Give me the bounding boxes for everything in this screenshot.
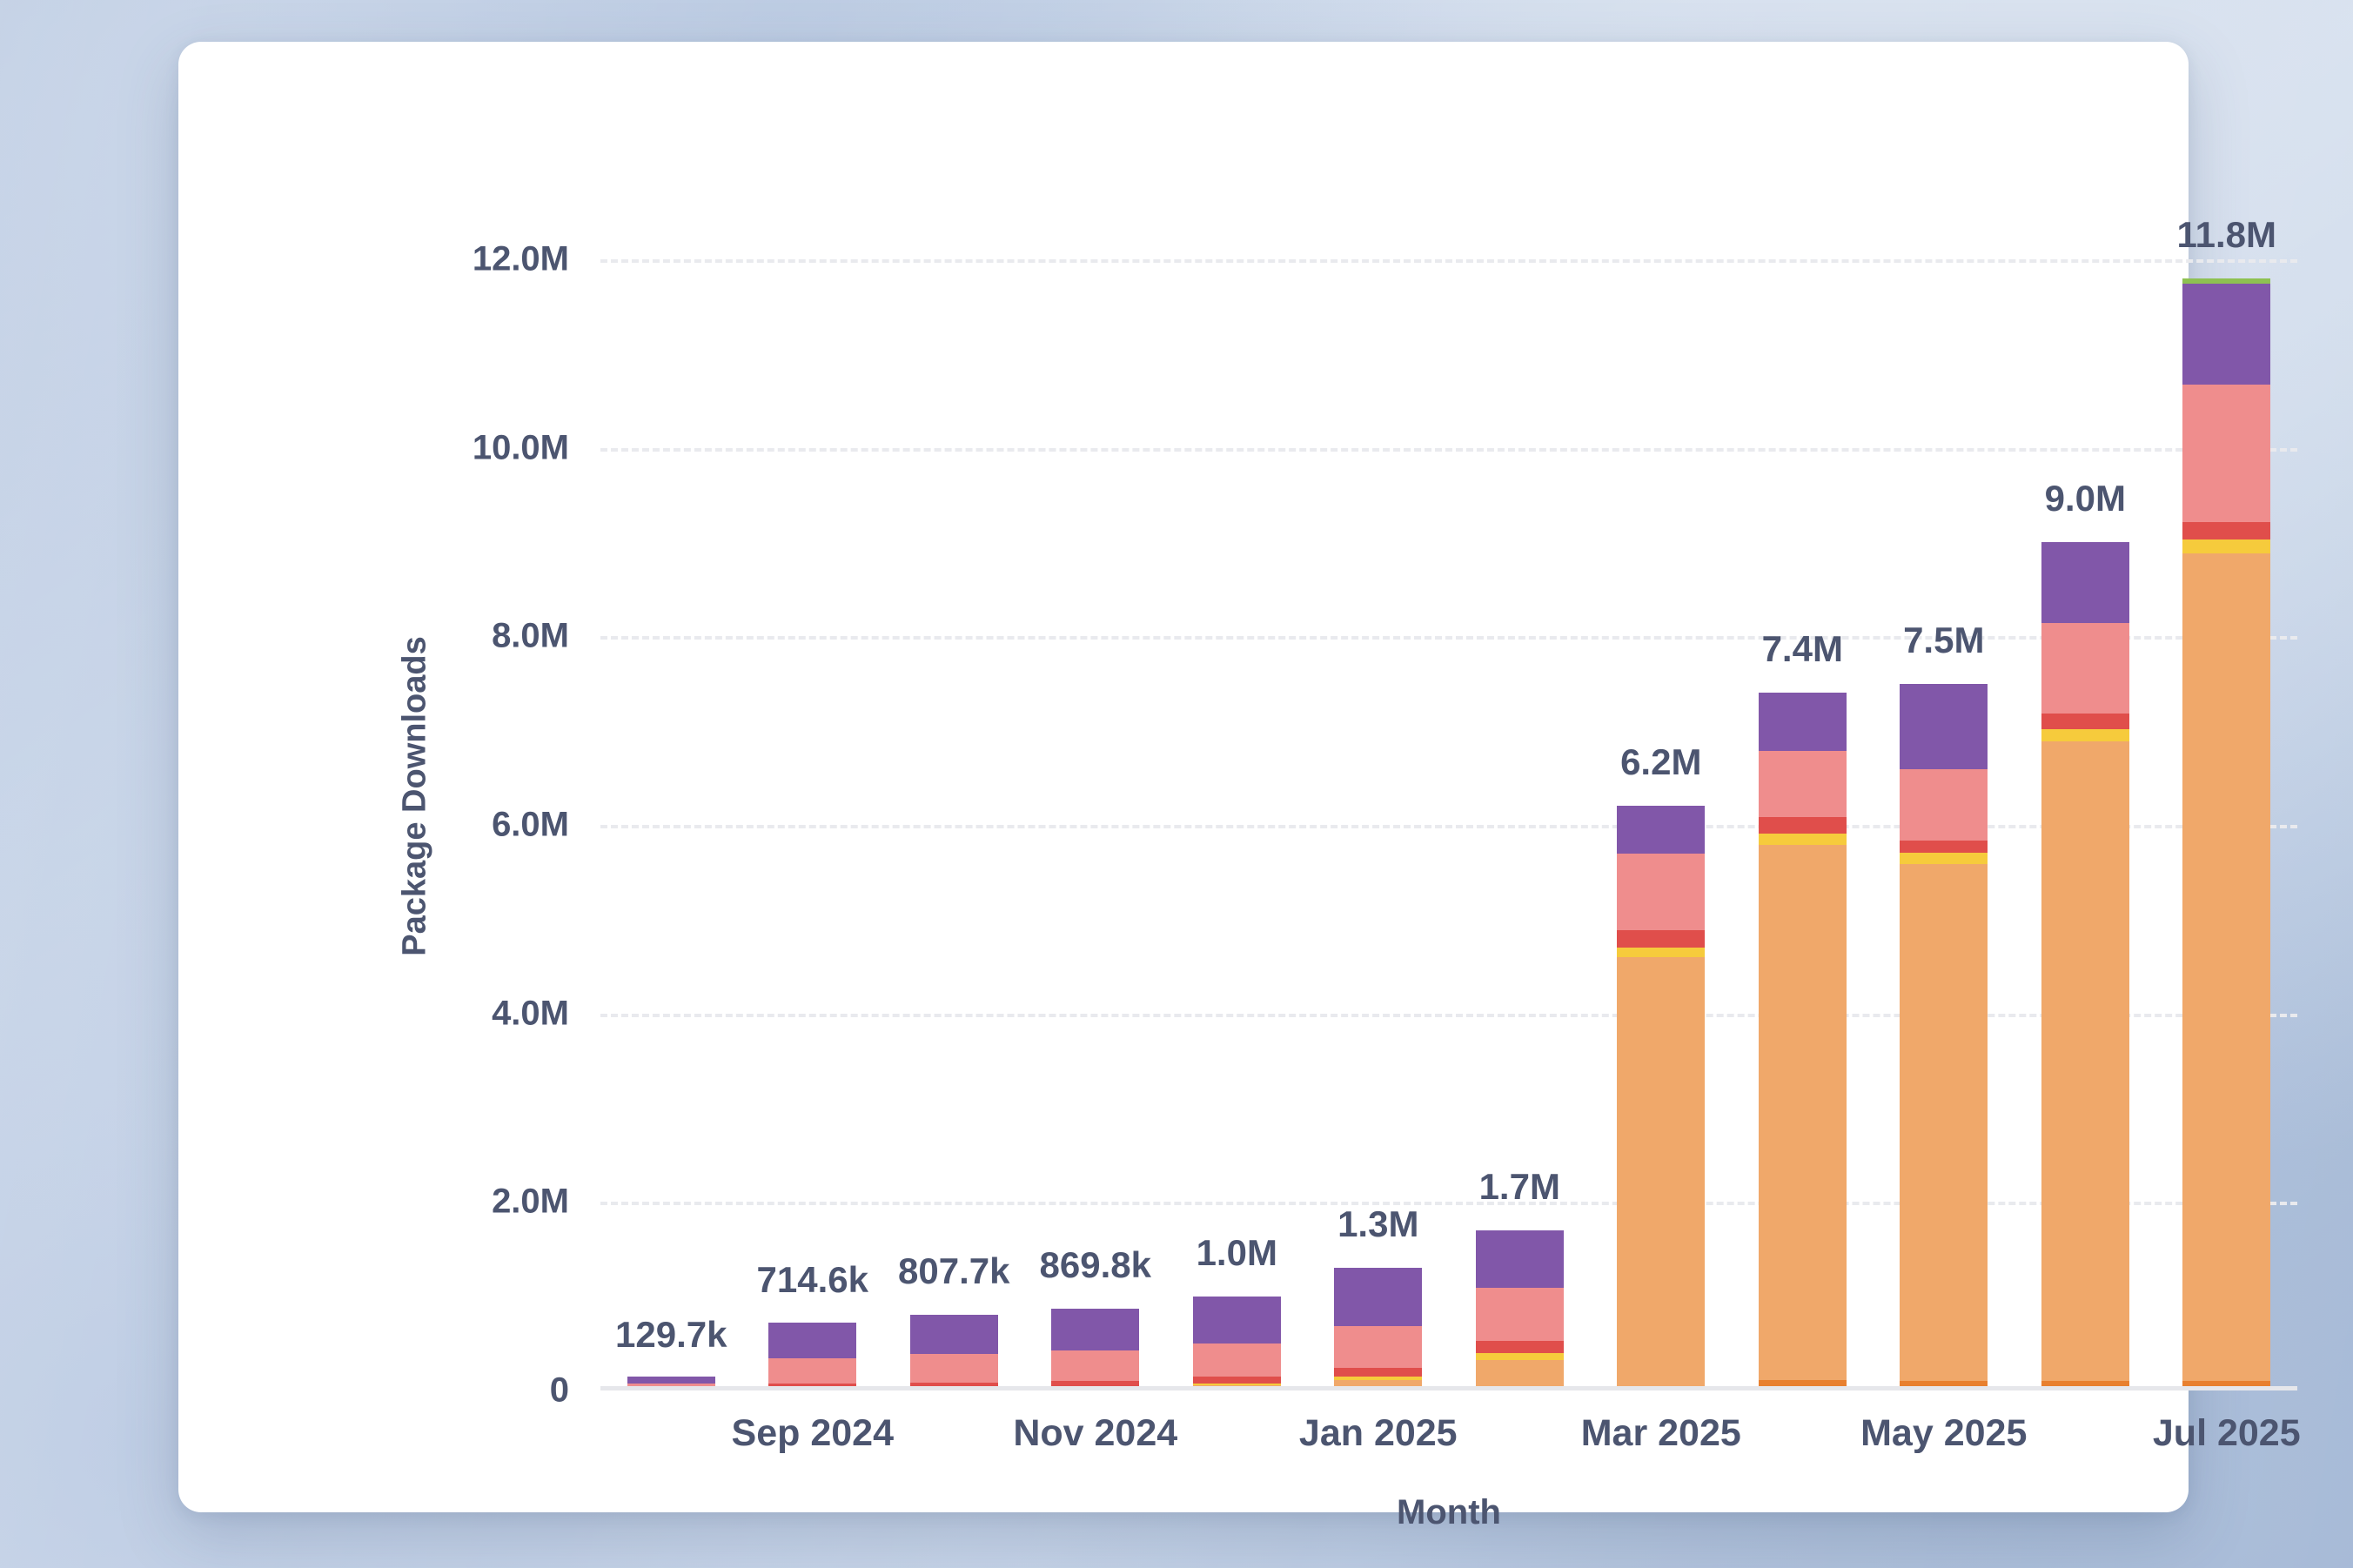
bar-segment-red[interactable] bbox=[2182, 522, 2270, 540]
stacked-bar[interactable]: 1.0M bbox=[1193, 1297, 1281, 1390]
bar-segment-salmon[interactable] bbox=[1051, 1350, 1139, 1381]
x-tick-label: Jan 2025 bbox=[1299, 1412, 1458, 1455]
bar-total-label: 7.5M bbox=[1903, 620, 1984, 661]
bar-segment-salmon[interactable] bbox=[1759, 751, 1847, 817]
y-tick-label: 8.0M bbox=[308, 617, 569, 656]
gridline bbox=[600, 448, 2297, 452]
bar-segment-light-orange[interactable] bbox=[2182, 553, 2270, 1381]
bar-segment-purple[interactable] bbox=[2182, 284, 2270, 384]
bar-total-label: 6.2M bbox=[1620, 741, 1701, 783]
stacked-bar[interactable]: 6.2M bbox=[1617, 806, 1705, 1390]
chart-card: Package Downloads Month 02.0M4.0M6.0M8.0… bbox=[178, 42, 2189, 1512]
stacked-bar[interactable]: 714.6k bbox=[768, 1323, 856, 1390]
stacked-bar[interactable]: 11.8M bbox=[2182, 278, 2270, 1390]
bar-segment-light-orange[interactable] bbox=[2041, 741, 2129, 1381]
bar-total-label: 9.0M bbox=[2045, 478, 2126, 519]
stacked-bar[interactable]: 7.5M bbox=[1900, 684, 1988, 1390]
bar-segment-purple[interactable] bbox=[2041, 542, 2129, 623]
stacked-bar[interactable]: 869.8k bbox=[1051, 1309, 1139, 1390]
bar-segment-red[interactable] bbox=[2041, 714, 2129, 729]
bar-segment-purple[interactable] bbox=[768, 1323, 856, 1358]
y-axis-title: Package Downloads bbox=[397, 636, 434, 955]
y-tick-label: 10.0M bbox=[308, 428, 569, 467]
bar-total-label: 714.6k bbox=[757, 1259, 868, 1301]
stacked-bar[interactable]: 1.3M bbox=[1334, 1268, 1422, 1390]
bar-total-label: 129.7k bbox=[615, 1314, 727, 1356]
bar-segment-salmon[interactable] bbox=[1900, 769, 1988, 841]
bar-segment-yellow[interactable] bbox=[2182, 539, 2270, 553]
bar-segment-purple[interactable] bbox=[1051, 1309, 1139, 1350]
y-tick-label: 0 bbox=[308, 1371, 569, 1411]
x-tick-label: Jul 2025 bbox=[2153, 1412, 2301, 1455]
x-tick-label: Sep 2024 bbox=[732, 1412, 894, 1455]
bar-total-label: 807.7k bbox=[898, 1250, 1009, 1292]
bar-segment-red[interactable] bbox=[1759, 817, 1847, 834]
bar-segment-yellow[interactable] bbox=[1900, 853, 1988, 864]
y-tick-label: 2.0M bbox=[308, 1183, 569, 1222]
bar-segment-light-orange[interactable] bbox=[1476, 1360, 1564, 1389]
bar-total-label: 11.8M bbox=[2177, 214, 2276, 256]
bar-segment-purple[interactable] bbox=[627, 1377, 715, 1384]
bar-segment-purple[interactable] bbox=[1193, 1297, 1281, 1344]
bar-segment-salmon[interactable] bbox=[2182, 385, 2270, 522]
y-tick-label: 6.0M bbox=[308, 806, 569, 845]
bar-total-label: 7.4M bbox=[1762, 628, 1843, 670]
stacked-bar[interactable]: 807.7k bbox=[910, 1315, 998, 1390]
bar-segment-yellow[interactable] bbox=[1476, 1353, 1564, 1360]
x-tick-label: Mar 2025 bbox=[1581, 1412, 1741, 1455]
bar-segment-light-orange[interactable] bbox=[1900, 864, 1988, 1381]
bar-segment-yellow[interactable] bbox=[1617, 948, 1705, 957]
stacked-bar[interactable]: 7.4M bbox=[1759, 693, 1847, 1390]
bar-segment-purple[interactable] bbox=[910, 1315, 998, 1355]
gridline bbox=[600, 259, 2297, 263]
bar-segment-salmon[interactable] bbox=[1334, 1326, 1422, 1368]
bar-segment-red[interactable] bbox=[1193, 1377, 1281, 1383]
bar-segment-purple[interactable] bbox=[1334, 1268, 1422, 1326]
bar-segment-salmon[interactable] bbox=[1476, 1288, 1564, 1341]
x-axis-title: Month bbox=[1397, 1493, 1501, 1532]
bar-segment-salmon[interactable] bbox=[768, 1358, 856, 1384]
bar-segment-red[interactable] bbox=[1476, 1341, 1564, 1353]
bar-segment-purple[interactable] bbox=[1759, 693, 1847, 751]
y-tick-label: 12.0M bbox=[308, 240, 569, 279]
bar-segment-purple[interactable] bbox=[1617, 806, 1705, 853]
bar-segment-purple[interactable] bbox=[1900, 684, 1988, 769]
bar-total-label: 1.3M bbox=[1337, 1203, 1418, 1245]
bar-segment-light-orange[interactable] bbox=[1759, 845, 1847, 1380]
bar-total-label: 1.7M bbox=[1479, 1166, 1560, 1208]
bar-segment-red[interactable] bbox=[1617, 930, 1705, 948]
x-axis-line bbox=[600, 1386, 2297, 1390]
bar-segment-purple[interactable] bbox=[1476, 1230, 1564, 1289]
bar-total-label: 1.0M bbox=[1197, 1232, 1277, 1274]
x-tick-label: May 2025 bbox=[1860, 1412, 2027, 1455]
bar-total-label: 869.8k bbox=[1040, 1244, 1151, 1286]
y-tick-label: 4.0M bbox=[308, 994, 569, 1033]
bar-segment-yellow[interactable] bbox=[2041, 729, 2129, 742]
bar-segment-yellow[interactable] bbox=[1759, 834, 1847, 844]
bar-segment-red[interactable] bbox=[1334, 1368, 1422, 1377]
bar-segment-red[interactable] bbox=[1900, 841, 1988, 853]
x-tick-label: Nov 2024 bbox=[1013, 1412, 1177, 1455]
plot-area: 02.0M4.0M6.0M8.0M10.0M12.0M 129.7k714.6k… bbox=[600, 203, 2297, 1390]
bar-segment-salmon[interactable] bbox=[910, 1354, 998, 1383]
bar-segment-salmon[interactable] bbox=[1617, 854, 1705, 931]
stacked-bar[interactable]: 1.7M bbox=[1476, 1230, 1564, 1390]
bar-segment-salmon[interactable] bbox=[2041, 623, 2129, 714]
bar-segment-light-orange[interactable] bbox=[1617, 957, 1705, 1387]
stacked-bar[interactable]: 9.0M bbox=[2041, 542, 2129, 1390]
bar-segment-salmon[interactable] bbox=[1193, 1344, 1281, 1377]
